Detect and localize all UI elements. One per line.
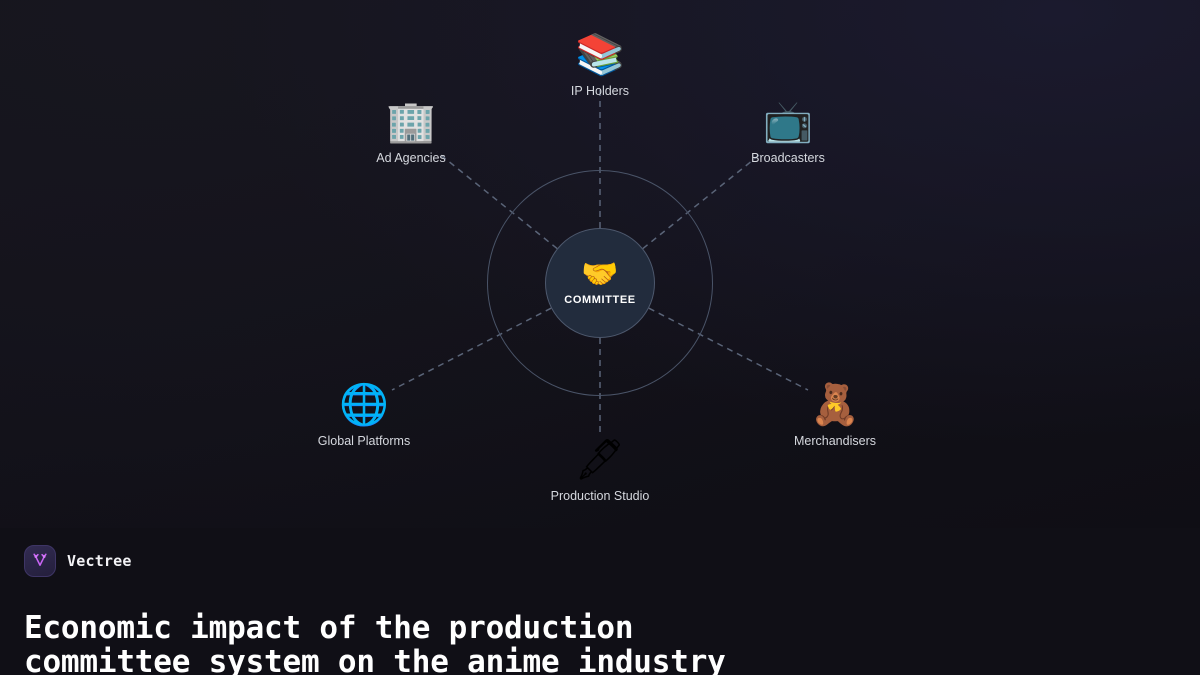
footer-bar: Vectree Economic impact of the productio… [0,528,1200,675]
hub-committee-node[interactable]: 🤝 COMMITTEE [545,228,655,338]
node-label-production-studio: Production Studio [551,489,650,503]
node-production-studio[interactable]: 🖋 Production Studio [500,437,700,503]
books-icon: 📚 [575,32,625,78]
brand-name: Vectree [67,552,132,570]
node-global-platforms[interactable]: 🌐 Global Platforms [264,382,464,448]
node-label-ad-agencies: Ad Agencies [376,151,446,165]
node-broadcasters[interactable]: 📺 Broadcasters [688,99,888,165]
fountain-pen-icon: 🖋 [575,437,626,483]
vectree-logo-icon [24,545,56,577]
node-label-ip-holders: IP Holders [571,84,629,98]
screenshot-root: 🤝 COMMITTEE 📚 IP Holders 🏢 Ad Agencies 📺… [0,0,1200,675]
hub-spoke-diagram: 🤝 COMMITTEE 📚 IP Holders 🏢 Ad Agencies 📺… [0,0,1200,528]
handshake-icon: 🤝 [581,260,618,290]
teddy-bear-icon: 🧸 [810,382,860,428]
hub-label: COMMITTEE [564,294,635,306]
page-title: Economic impact of the production commit… [24,611,726,675]
node-label-merchandisers: Merchandisers [794,434,876,448]
office-building-icon: 🏢 [386,99,436,145]
brand[interactable]: Vectree [24,544,1176,578]
television-icon: 📺 [763,99,813,145]
node-merchandisers[interactable]: 🧸 Merchandisers [735,382,935,448]
title-row: Economic impact of the production commit… [24,590,1176,675]
node-ad-agencies[interactable]: 🏢 Ad Agencies [311,99,511,165]
node-ip-holders[interactable]: 📚 IP Holders [500,32,700,98]
node-label-global-platforms: Global Platforms [318,434,410,448]
globe-icon: 🌐 [339,382,389,428]
node-label-broadcasters: Broadcasters [751,151,825,165]
